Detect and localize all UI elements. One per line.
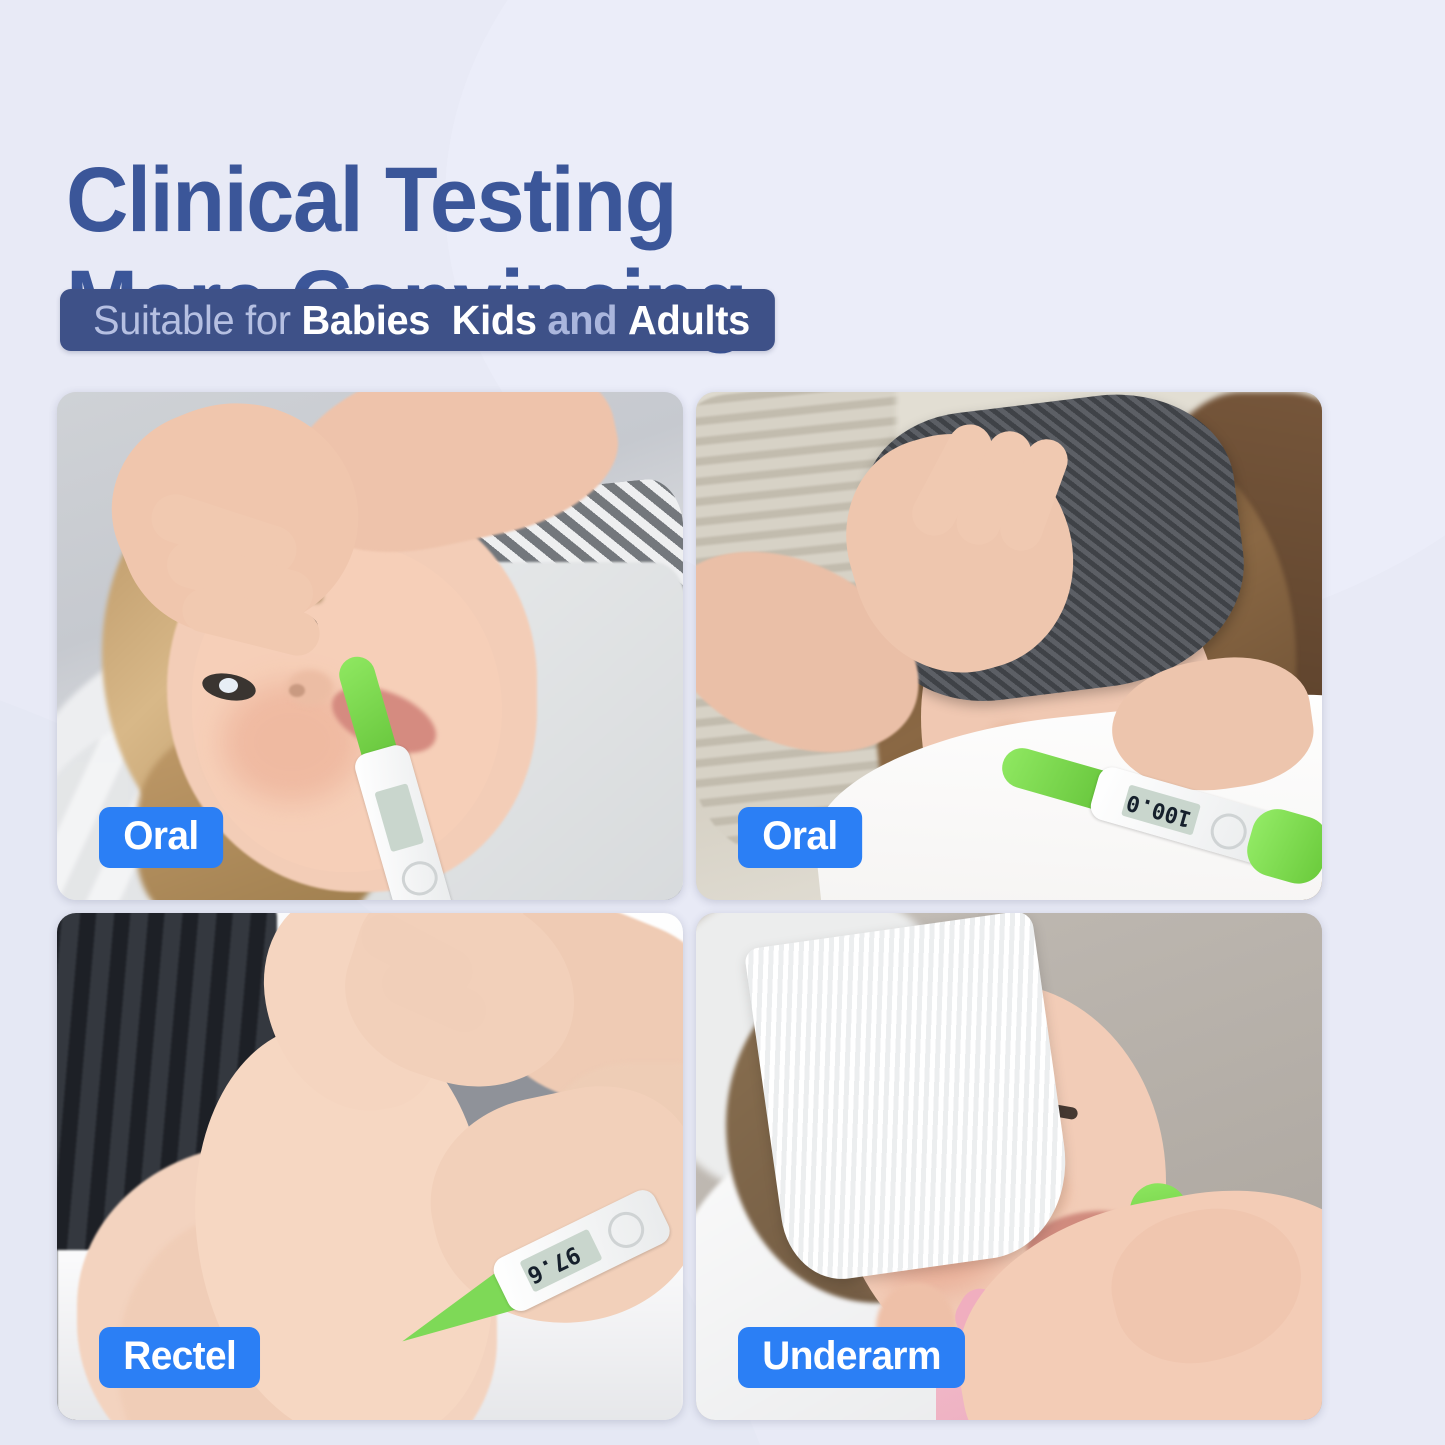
- product-infographic-poster: Clinical Testing More Convincing Suitabl…: [0, 0, 1445, 1445]
- photo-adult-oral: 100.0 Oral: [696, 392, 1322, 900]
- usage-badge-oral-child: Oral: [99, 807, 223, 868]
- banner-gap: [430, 297, 452, 344]
- headline-line-1: Clinical Testing: [66, 149, 676, 251]
- banner-babies-label: Babies: [301, 297, 430, 344]
- banner-kids-label: Kids: [452, 297, 537, 344]
- child-eye-highlight-lower: [219, 678, 238, 693]
- usage-photo-grid: Oral: [57, 392, 1322, 1420]
- photo-baby-rectal: 97.6 Rectel: [57, 913, 683, 1421]
- usage-badge-underarm: Underarm: [738, 1327, 965, 1388]
- photo-child-underarm: 98.3 Underarm: [696, 913, 1322, 1421]
- usage-badge-oral-adult: Oral: [738, 807, 862, 868]
- banner-adults-label: Adults: [628, 297, 750, 344]
- usage-badge-rectal: Rectel: [99, 1327, 260, 1388]
- child-nostril: [289, 684, 305, 697]
- photo-child-oral: Oral: [57, 392, 683, 900]
- banner-conjunction-label: and: [537, 297, 628, 344]
- suitable-for-banner: Suitable for Babies Kids and Adults: [60, 289, 775, 351]
- towel-on-forehead: [744, 913, 1078, 1287]
- banner-prefix-label: Suitable for: [93, 297, 301, 344]
